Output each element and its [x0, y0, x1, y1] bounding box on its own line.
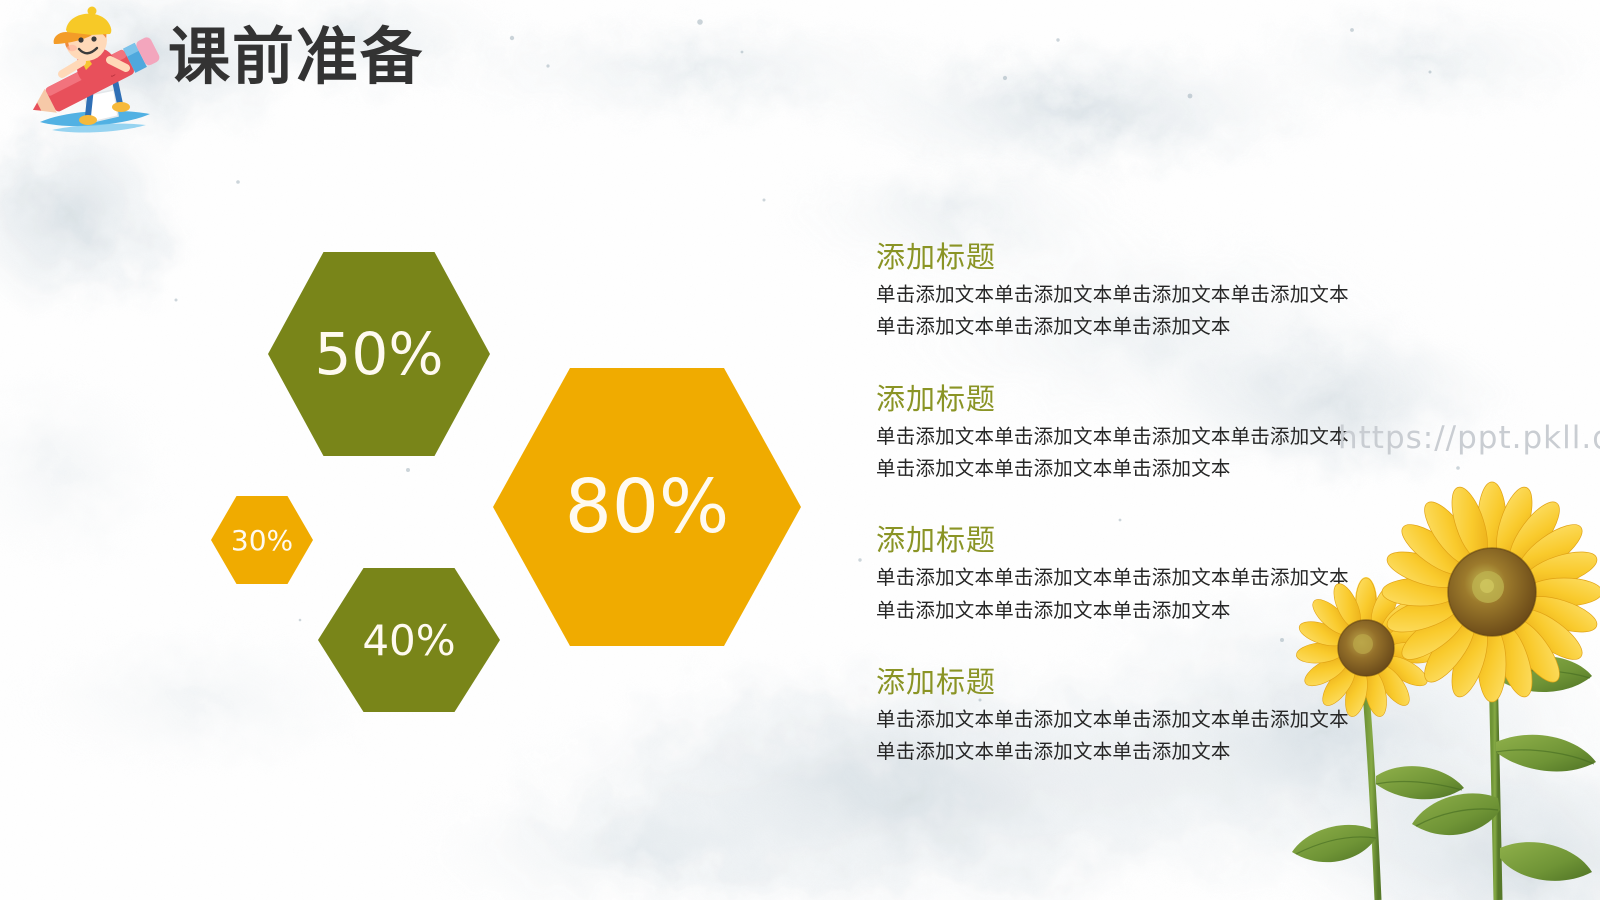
- section-title: 添加标题: [876, 240, 1436, 274]
- section-body-line: 单击添加文本单击添加文本单击添加文本单击添加文本: [876, 279, 1436, 311]
- section-body-line: 单击添加文本单击添加文本单击添加文本: [876, 311, 1436, 343]
- hexagon-50[interactable]: 50%: [268, 252, 490, 456]
- list-item[interactable]: 添加标题 单击添加文本单击添加文本单击添加文本单击添加文本 单击添加文本单击添加…: [876, 240, 1436, 344]
- page-title: 课前准备: [168, 26, 424, 88]
- slide-canvas: B: [0, 0, 1600, 900]
- watermark: https://ppt.pkll.de: [1338, 420, 1600, 456]
- boy-riding-pencil-icon: B: [22, 4, 172, 146]
- sunflower-illustration: [1270, 480, 1600, 900]
- hexagon-30[interactable]: 30%: [211, 496, 313, 584]
- hexagon-80[interactable]: 80%: [493, 368, 801, 646]
- section-title: 添加标题: [876, 382, 1436, 416]
- hexagon-40[interactable]: 40%: [318, 568, 500, 712]
- slide-header: B: [0, 0, 620, 150]
